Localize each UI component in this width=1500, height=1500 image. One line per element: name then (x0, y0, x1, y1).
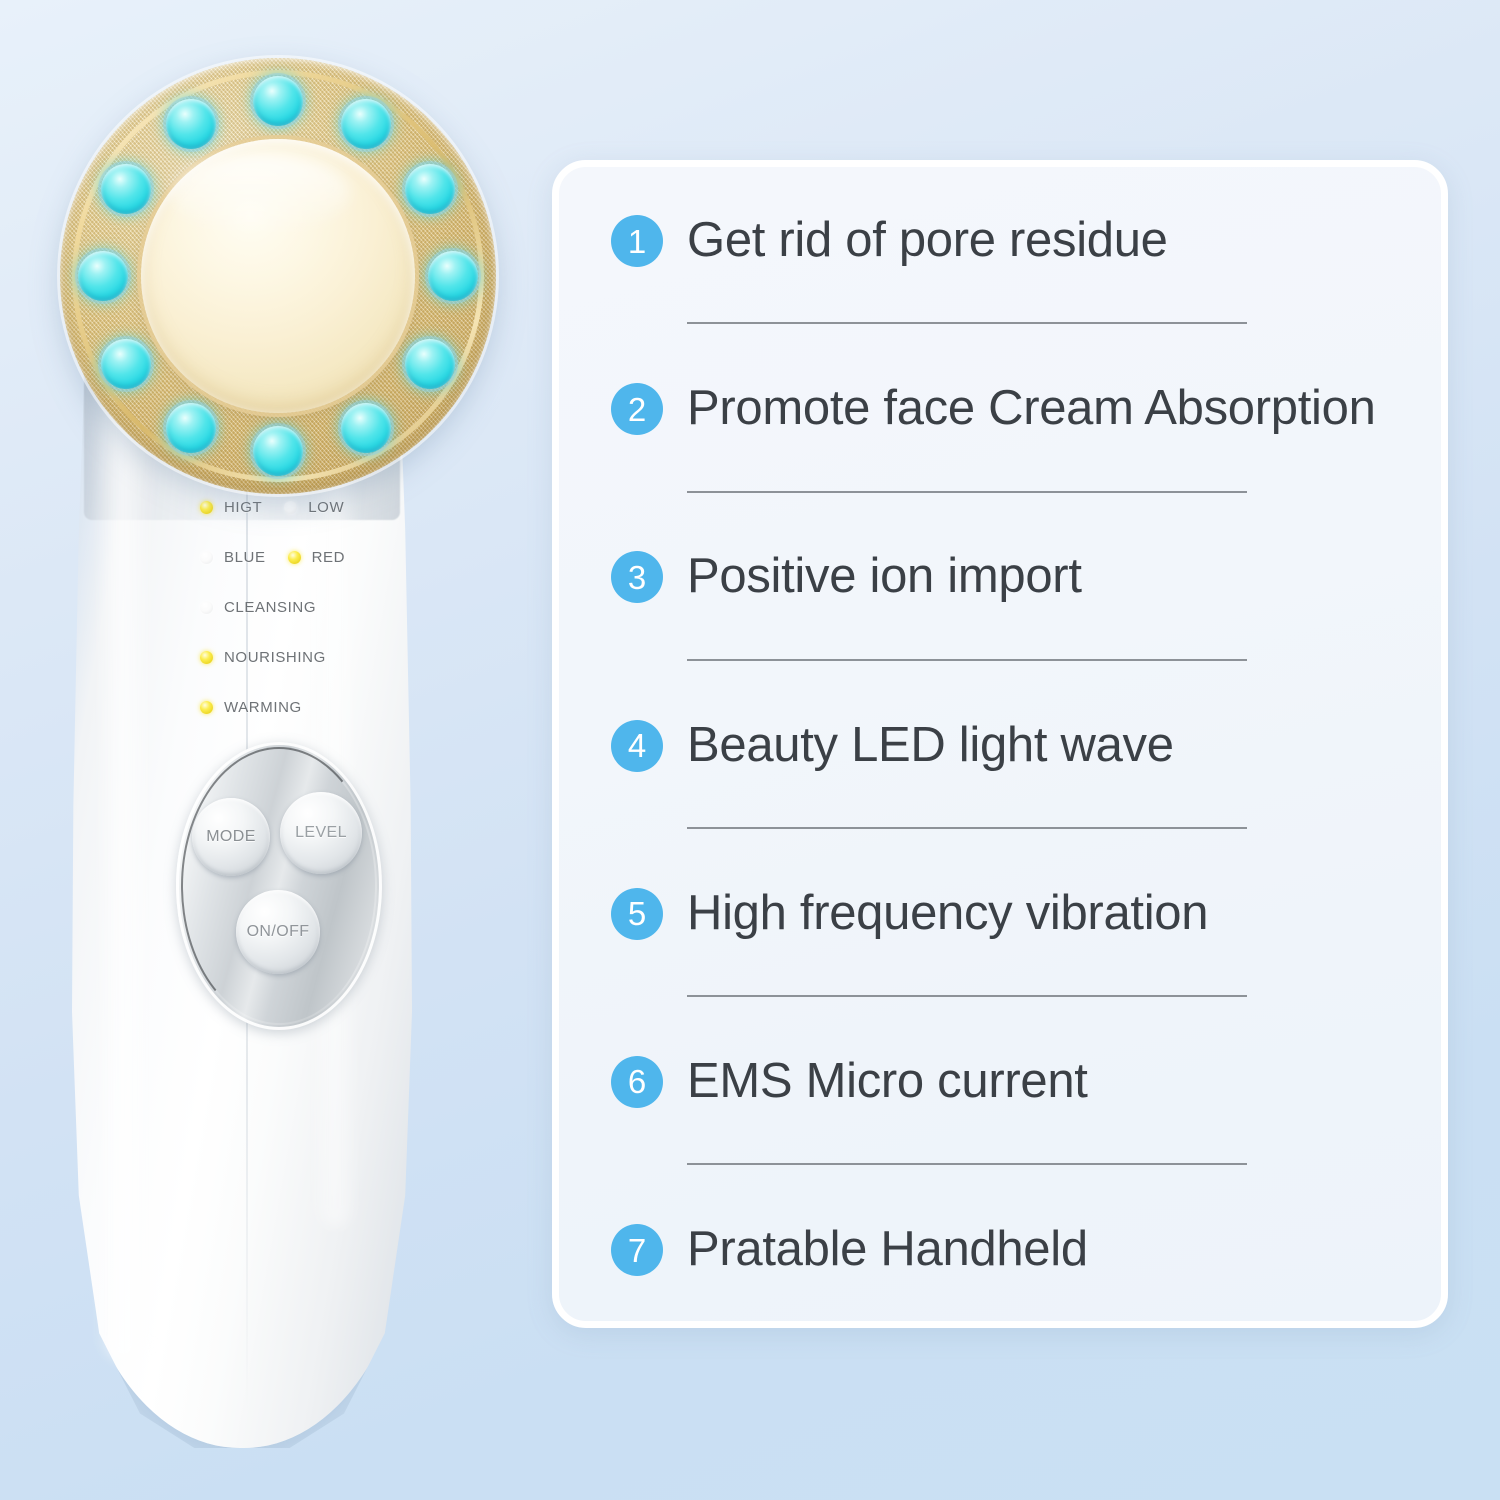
led-light-4 (428, 251, 478, 301)
treatment-plate (141, 139, 415, 413)
feature-item-1: 1Get rid of pore residue (611, 205, 1397, 274)
indicator-warming: WARMING (200, 699, 302, 716)
led-light-8 (166, 403, 216, 453)
indicator-label-red: RED (312, 549, 345, 566)
indicator-label-low: LOW (308, 499, 344, 516)
control-pad: MODE LEVEL ON/OFF (176, 742, 382, 1030)
indicator-row-light: BLUE RED (200, 532, 460, 582)
indicator-row-nourishing: NOURISHING (200, 632, 460, 682)
indicator-label-cleansing: CLEANSING (224, 599, 316, 616)
feature-text: High frequency vibration (687, 882, 1208, 943)
mode-button[interactable]: MODE (192, 798, 270, 876)
led-light-12 (166, 99, 216, 149)
led-light-1 (253, 76, 303, 126)
feature-item-7: 7Pratable Handheld (611, 1214, 1397, 1283)
feature-divider (687, 322, 1247, 324)
feature-text: Pratable Handheld (687, 1218, 1088, 1279)
led-light-2 (341, 99, 391, 149)
feature-number-badge: 3 (611, 551, 663, 603)
feature-divider (687, 491, 1247, 493)
led-light-11 (101, 164, 151, 214)
feature-number-badge: 4 (611, 720, 663, 772)
power-button-label: ON/OFF (247, 923, 310, 941)
indicator-dot-nourishing-icon (200, 651, 213, 664)
feature-item-2: 2Promote face Cream Absorption (611, 373, 1397, 442)
feature-number-badge: 2 (611, 383, 663, 435)
feature-text: Promote face Cream Absorption (687, 377, 1376, 438)
feature-divider (687, 659, 1247, 661)
led-light-6 (341, 403, 391, 453)
indicator-low: LOW (284, 499, 344, 516)
feature-number-badge: 6 (611, 1056, 663, 1108)
indicator-dot-warming-icon (200, 701, 213, 714)
device-head (60, 58, 496, 494)
feature-number-badge: 5 (611, 888, 663, 940)
status-indicator-group: HIGT LOW BLUE RED (200, 482, 460, 732)
indicator-label-high: HIGT (224, 499, 262, 516)
level-button-label: LEVEL (295, 824, 347, 842)
indicator-dot-cleansing-icon (200, 601, 213, 614)
indicator-dot-high-icon (200, 501, 213, 514)
indicator-label-blue: BLUE (224, 549, 266, 566)
indicator-dot-low-icon (284, 501, 297, 514)
feature-item-4: 4Beauty LED light wave (611, 710, 1397, 779)
level-button[interactable]: LEVEL (280, 792, 362, 874)
led-light-10 (78, 251, 128, 301)
feature-divider (687, 995, 1247, 997)
indicator-row-cleansing: CLEANSING (200, 582, 460, 632)
indicator-label-nourishing: NOURISHING (224, 649, 326, 666)
feature-text: Beauty LED light wave (687, 714, 1174, 775)
feature-divider (687, 1163, 1247, 1165)
feature-divider (687, 827, 1247, 829)
led-light-5 (405, 339, 455, 389)
feature-number-badge: 7 (611, 1224, 663, 1276)
feature-list-panel: 1Get rid of pore residue2Promote face Cr… (552, 160, 1448, 1328)
led-light-3 (405, 164, 455, 214)
feature-text: Get rid of pore residue (687, 209, 1168, 270)
indicator-label-warming: WARMING (224, 699, 302, 716)
feature-item-5: 5High frequency vibration (611, 878, 1397, 947)
feature-item-6: 6EMS Micro current (611, 1046, 1397, 1115)
mode-button-label: MODE (206, 828, 256, 846)
infographic-canvas: HIGT LOW BLUE RED (0, 0, 1500, 1500)
feature-text: EMS Micro current (687, 1050, 1088, 1111)
indicator-high: HIGT (200, 499, 262, 516)
feature-list: 1Get rid of pore residue2Promote face Cr… (611, 205, 1397, 1283)
feature-text: Positive ion import (687, 545, 1082, 606)
power-button[interactable]: ON/OFF (236, 890, 320, 974)
indicator-dot-red-icon (288, 551, 301, 564)
indicator-nourishing: NOURISHING (200, 649, 326, 666)
indicator-red: RED (288, 549, 345, 566)
led-light-9 (101, 339, 151, 389)
indicator-cleansing: CLEANSING (200, 599, 316, 616)
product-device-illustration: HIGT LOW BLUE RED (0, 0, 540, 1500)
indicator-row-warming: WARMING (200, 682, 460, 732)
indicator-blue: BLUE (200, 549, 266, 566)
led-light-7 (253, 426, 303, 476)
feature-item-3: 3Positive ion import (611, 541, 1397, 610)
feature-number-badge: 1 (611, 215, 663, 267)
indicator-dot-blue-icon (200, 551, 213, 564)
